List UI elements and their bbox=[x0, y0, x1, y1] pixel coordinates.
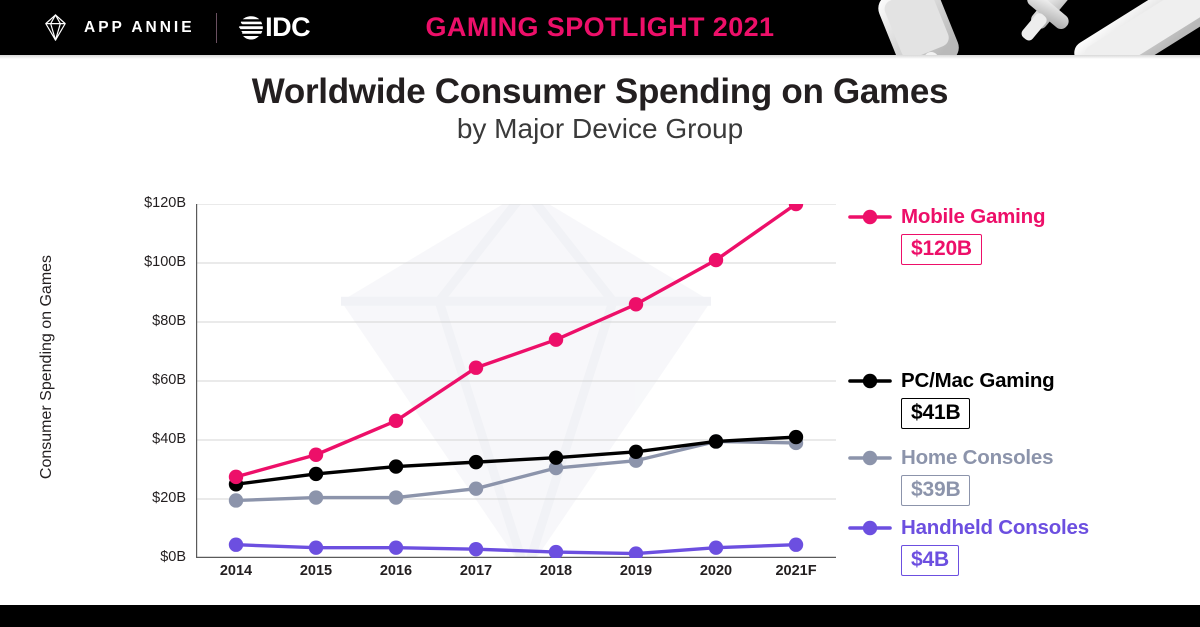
legend-label: PC/Mac Gaming bbox=[901, 369, 1054, 393]
x-axis-tick-label: 2018 bbox=[516, 563, 596, 579]
x-axis-tick-label: 2016 bbox=[356, 563, 436, 579]
legend-value-badge: $41B bbox=[901, 398, 970, 429]
legend-entry[interactable]: Handheld Consoles$4B bbox=[848, 515, 1200, 576]
legend-marker-icon bbox=[848, 209, 892, 225]
x-axis-tick-label: 2019 bbox=[596, 563, 676, 579]
y-axis-tick-label: $20B bbox=[94, 490, 186, 506]
x-axis-tick-label: 2014 bbox=[196, 563, 276, 579]
header-bottom-edge bbox=[0, 55, 1200, 59]
y-axis-tick-label: $40B bbox=[94, 431, 186, 447]
y-axis-label: Consumer Spending on Games bbox=[38, 202, 56, 532]
legend-entry[interactable]: Home Consoles$39B bbox=[848, 445, 1200, 506]
plot-region bbox=[196, 204, 836, 558]
y-axis-tick-label: $100B bbox=[94, 254, 186, 270]
x-axis-tick-label: 2015 bbox=[276, 563, 356, 579]
chart-subtitle: by Major Device Group bbox=[0, 113, 1200, 145]
x-axis-ticks: 20142015201620172018201920202021F bbox=[0, 563, 845, 591]
title-block: Worldwide Consumer Spending on Games by … bbox=[0, 72, 1200, 145]
legend-entry[interactable]: PC/Mac Gaming$41B bbox=[848, 368, 1200, 429]
y-axis-tick-label: $120B bbox=[94, 195, 186, 211]
chart-title: Worldwide Consumer Spending on Games bbox=[0, 72, 1200, 111]
legend-label: Home Consoles bbox=[901, 446, 1053, 470]
legend-marker-icon bbox=[848, 450, 892, 466]
legend-value-badge: $4B bbox=[901, 545, 959, 576]
legend-marker-icon bbox=[848, 520, 892, 536]
legend-label: Mobile Gaming bbox=[901, 205, 1045, 229]
legend-value-badge: $39B bbox=[901, 475, 970, 506]
x-axis-tick-label: 2020 bbox=[676, 563, 756, 579]
chart-area: Consumer Spending on Games $0B$20B$40B$6… bbox=[0, 190, 845, 590]
legend-entry[interactable]: Mobile Gaming$120B bbox=[848, 204, 1200, 265]
legend-value-badge: $120B bbox=[901, 234, 982, 265]
footer-bar bbox=[0, 605, 1200, 627]
legend-label: Handheld Consoles bbox=[901, 516, 1089, 540]
x-axis-tick-label: 2017 bbox=[436, 563, 516, 579]
chart-legend: Mobile Gaming$120BPC/Mac Gaming$41BHome … bbox=[848, 190, 1200, 590]
x-axis-tick-label: 2021F bbox=[756, 563, 836, 579]
y-axis-tick-label: $80B bbox=[94, 313, 186, 329]
y-axis-ticks: $0B$20B$40B$60B$80B$100B$120B bbox=[94, 190, 186, 590]
legend-marker-icon bbox=[848, 373, 892, 389]
header-bar: APP ANNIE IDC GAMI bbox=[0, 0, 1200, 55]
y-axis-tick-label: $60B bbox=[94, 372, 186, 388]
device-and-sword-3d-art bbox=[870, 0, 1200, 55]
